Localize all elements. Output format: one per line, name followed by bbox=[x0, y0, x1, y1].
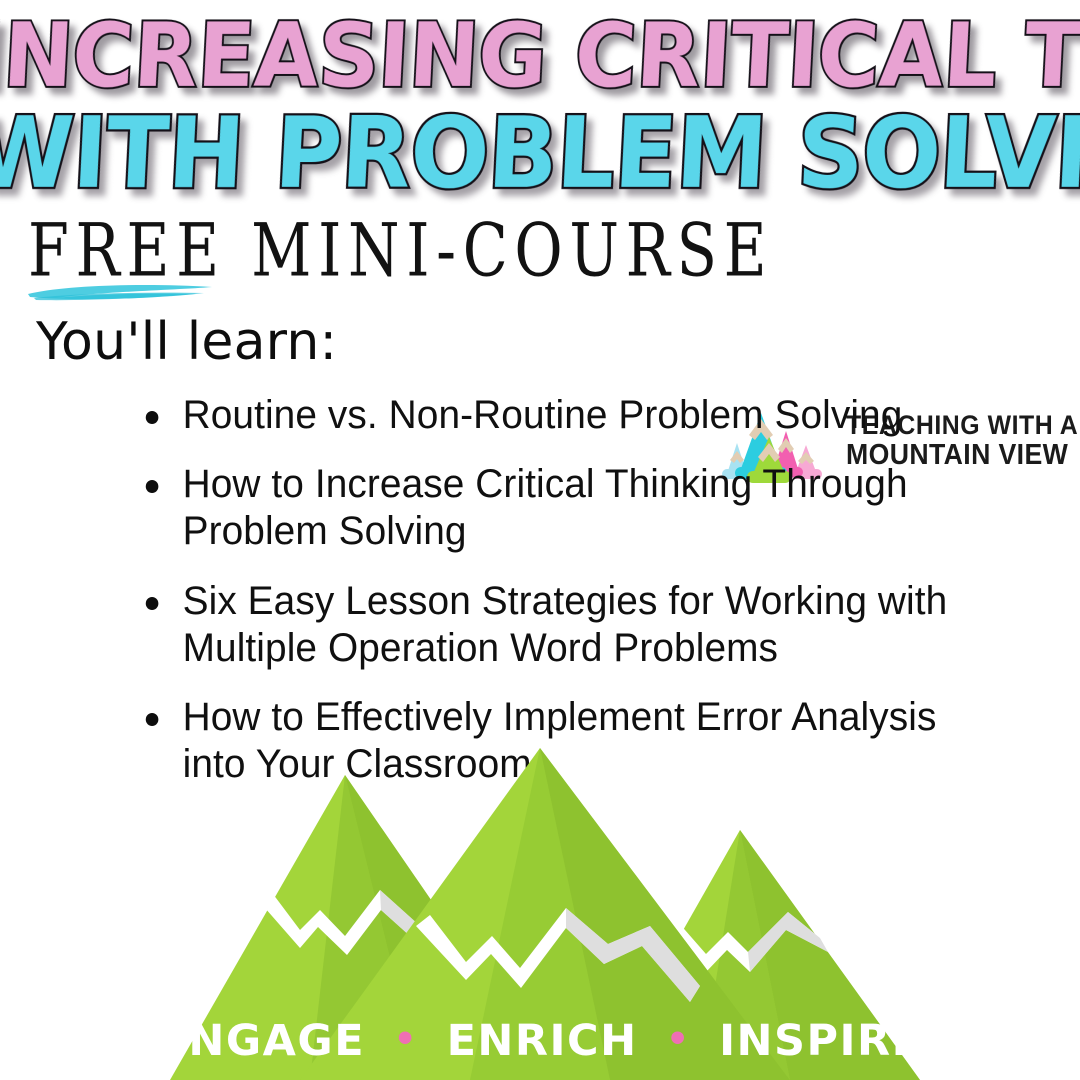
list-item: Six Easy Lesson Strategies for Working w… bbox=[138, 578, 992, 672]
mountain-scene-graphic: ENGAGE • ENRICH • INSPIRE bbox=[0, 740, 1080, 1080]
poster-canvas: Increasing Critical Thinking With Proble… bbox=[0, 0, 1080, 1080]
list-item: How to Increase Critical Thinking Throug… bbox=[138, 461, 992, 555]
course-row: FREE MINI-COURSE bbox=[0, 205, 1080, 305]
headline-row-1: Increasing Critical Thinking bbox=[0, 14, 1080, 104]
headline-line-1: Increasing Critical Thinking bbox=[0, 14, 1080, 97]
course-title: FREE MINI-COURSE bbox=[28, 207, 773, 293]
tagline: ENGAGE • ENRICH • INSPIRE bbox=[0, 1016, 1080, 1066]
headline-block: Increasing Critical Thinking With Proble… bbox=[0, 14, 1080, 204]
tagline-separator-1: • bbox=[384, 1019, 429, 1060]
headline-row-2: With Problem Solving bbox=[0, 108, 1080, 204]
tagline-word-3: INSPIRE bbox=[717, 1016, 924, 1066]
bullet-dot-icon bbox=[146, 597, 159, 610]
tagline-separator-2: • bbox=[656, 1019, 701, 1060]
bullet-dot-icon bbox=[146, 480, 159, 493]
list-item-text: Six Easy Lesson Strategies for Working w… bbox=[183, 579, 948, 670]
section-heading-youll-learn: You'll learn: bbox=[36, 312, 337, 372]
bullet-dot-icon bbox=[146, 411, 159, 424]
headline-line-2: With Problem Solving bbox=[0, 108, 1080, 200]
tagline-word-2: ENRICH bbox=[445, 1016, 640, 1066]
bullet-dot-icon bbox=[146, 713, 159, 726]
list-item: Routine vs. Non-Routine Problem Solving bbox=[138, 392, 992, 439]
tagline-word-1: ENGAGE bbox=[155, 1016, 367, 1066]
list-item-text: How to Increase Critical Thinking Throug… bbox=[183, 462, 908, 553]
list-item-text: Routine vs. Non-Routine Problem Solving bbox=[183, 393, 903, 437]
